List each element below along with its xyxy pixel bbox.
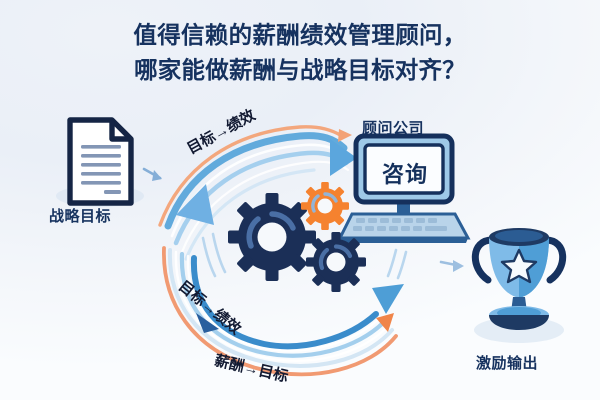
bottom-right-orange-arrowhead <box>376 313 394 332</box>
page-title-line2: 哪家能做薪酬与战略目标对齐？ <box>0 53 600 88</box>
flow-label-bottom-lower: 薪酬→目标 <box>213 349 291 386</box>
illustration-canvas: 值得信赖的薪酬绩效管理顾问， 哪家能做薪酬与战略目标对齐？ <box>0 0 600 400</box>
top-orange-arrowhead <box>338 129 352 142</box>
page-title-line1: 值得信赖的薪酬绩效管理顾问， <box>0 18 600 53</box>
monitor-screen-text: 咨询 <box>371 157 439 189</box>
motion-ticks <box>203 234 406 278</box>
monitor-to-trophy-arrow <box>441 260 464 272</box>
gear-medium <box>294 220 379 305</box>
page-title: 值得信赖的薪酬绩效管理顾问， 哪家能做薪酬与战略目标对齐？ <box>0 18 600 88</box>
flow-label-top: 目标→绩效 <box>183 104 259 159</box>
loop-inbound-arrowhead <box>176 184 214 225</box>
monitor-label: 顾问公司 <box>362 117 424 138</box>
bottom-right-blue-arrowhead <box>372 284 404 314</box>
trophy-label: 激励输出 <box>476 352 538 373</box>
gear-small-orange <box>291 172 359 240</box>
loop-to-monitor-arrowhead <box>330 139 357 176</box>
gear-large <box>210 175 334 299</box>
document-label: 战略目标 <box>49 205 111 226</box>
flow-label-bottom-upper: 目标→绩效 <box>174 275 246 339</box>
doc-to-loop-arrow <box>144 169 162 181</box>
